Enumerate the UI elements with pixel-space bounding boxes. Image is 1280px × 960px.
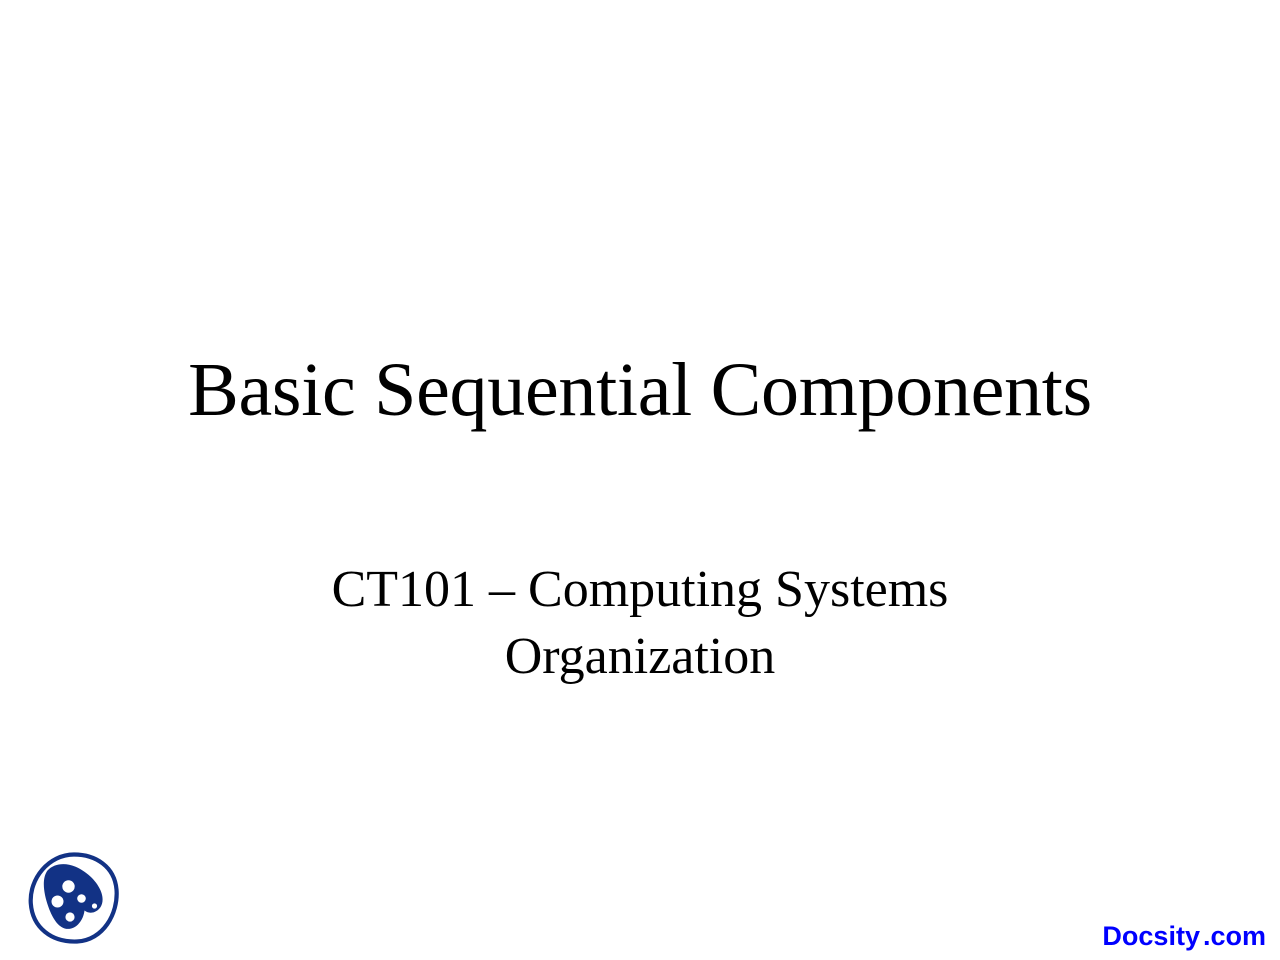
docsity-logo-svg (27, 851, 121, 945)
logo-dot-4 (92, 903, 97, 908)
wordmark-tld: .com (1203, 921, 1266, 951)
slide-subtitle: CT101 – Computing Systems Organization (290, 556, 990, 690)
title-block: Basic Sequential Components (90, 352, 1190, 428)
presentation-slide: Basic Sequential Components CT101 – Comp… (0, 0, 1280, 960)
wordmark-name: Docsity (1102, 921, 1200, 951)
logo-dot-5 (65, 912, 74, 921)
logo-dot-2 (52, 896, 64, 908)
page-title: Basic Sequential Components (90, 352, 1190, 428)
logo-dot-1 (62, 880, 74, 892)
docsity-wordmark: Docsity.com (1102, 921, 1266, 951)
docsity-logo-icon (27, 851, 121, 945)
subtitle-block: CT101 – Computing Systems Organization (290, 556, 990, 690)
logo-dot-3 (77, 894, 86, 903)
